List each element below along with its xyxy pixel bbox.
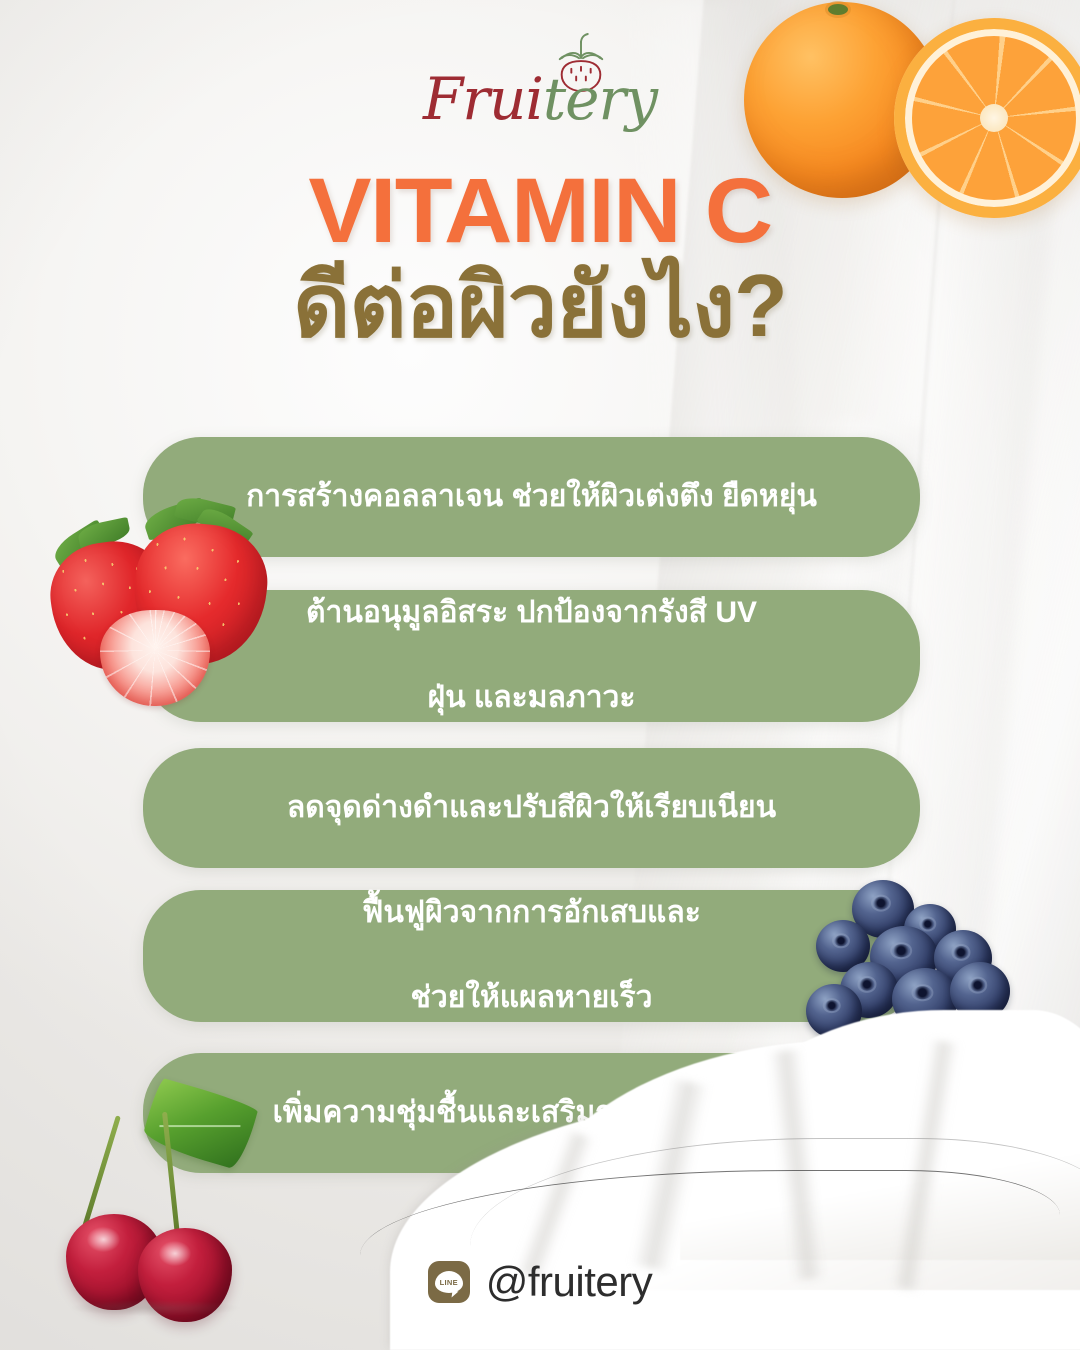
cherry-leaf	[141, 1077, 260, 1171]
benefit-line: การสร้างคอลลาเจน ช่วยให้ผิวเต่งตึง ยืดหย…	[207, 476, 856, 519]
orange-stem	[828, 4, 848, 15]
benefit-pill: ลดจุดด่างดำและปรับสีผิวให้เรียบเนียน	[143, 748, 920, 868]
benefit-line: ฟื้นฟูผิวจากการอักเสบและ	[207, 892, 856, 935]
orange-rind	[894, 18, 1080, 218]
benefit-line: ฝุ่น และมลภาวะ	[207, 677, 856, 720]
benefit-line: ช่วยให้แผลหายเร็ว	[207, 977, 856, 1020]
line-icon[interactable]: LINE	[428, 1261, 470, 1303]
benefit-line: ต้านอนุมูลอิสระ ปกป้องจากรังสี UV	[207, 592, 856, 635]
strawberry-half	[100, 610, 210, 706]
orange-half	[894, 18, 1080, 218]
benefit-line: ลดจุดด่างดำและปรับสีผิวให้เรียบเนียน	[207, 787, 856, 830]
orange-fruit-icon	[736, 0, 1080, 282]
footer-contact: LINE @fruitery	[0, 1258, 1080, 1306]
strawberry-fruit-icon	[48, 498, 278, 688]
line-badge-label: LINE	[440, 1278, 458, 1287]
social-handle: @fruitery	[486, 1258, 653, 1306]
infographic-poster: Fruitery VITAMIN C ดีต่อผิวยังไง? การสร้…	[0, 0, 1080, 1350]
line-bubble-shape: LINE	[435, 1271, 463, 1293]
